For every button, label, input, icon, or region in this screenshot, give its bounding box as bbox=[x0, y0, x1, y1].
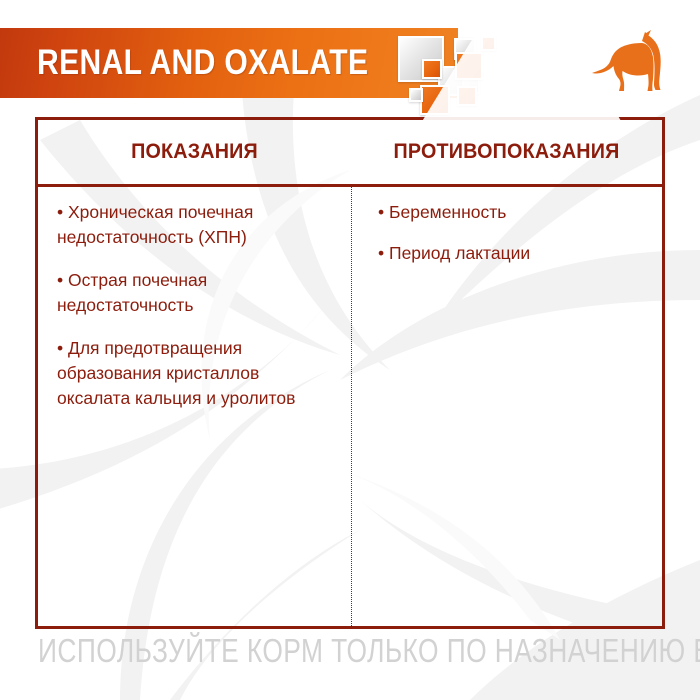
list-item: • Для предотвращения образования кристал… bbox=[57, 336, 333, 411]
slide-root: RENAL AND OXALATE ПОКАЗАНИЯ ПРОТИВОПОКАЗ… bbox=[0, 0, 700, 700]
column-header-contraindications: ПРОТИВОПОКАЗАНИЯ bbox=[360, 140, 652, 164]
column-header-indications: ПОКАЗАНИЯ bbox=[47, 140, 341, 164]
cat-silhouette-icon bbox=[592, 28, 672, 96]
contraindications-cell: • Беременность • Период лактации bbox=[351, 187, 662, 282]
list-item: • Беременность bbox=[378, 200, 644, 225]
page-title: RENAL AND OXALATE bbox=[37, 45, 368, 81]
table-body: • Хроническая почечная недостаточность (… bbox=[38, 187, 662, 626]
list-item: • Период лактации bbox=[378, 241, 644, 266]
indications-cell: • Хроническая почечная недостаточность (… bbox=[38, 187, 351, 429]
indications-table: ПОКАЗАНИЯ ПРОТИВОПОКАЗАНИЯ • Хроническая… bbox=[35, 117, 665, 629]
list-item: • Острая почечная недостаточность bbox=[57, 268, 333, 318]
table-header-row: ПОКАЗАНИЯ ПРОТИВОПОКАЗАНИЯ bbox=[38, 120, 662, 187]
footer-disclaimer: ИСПОЛЬЗУЙТЕ КОРМ ТОЛЬКО ПО НАЗНАЧЕНИЮ ВР… bbox=[38, 633, 542, 669]
list-item: • Хроническая почечная недостаточность (… bbox=[57, 200, 333, 250]
